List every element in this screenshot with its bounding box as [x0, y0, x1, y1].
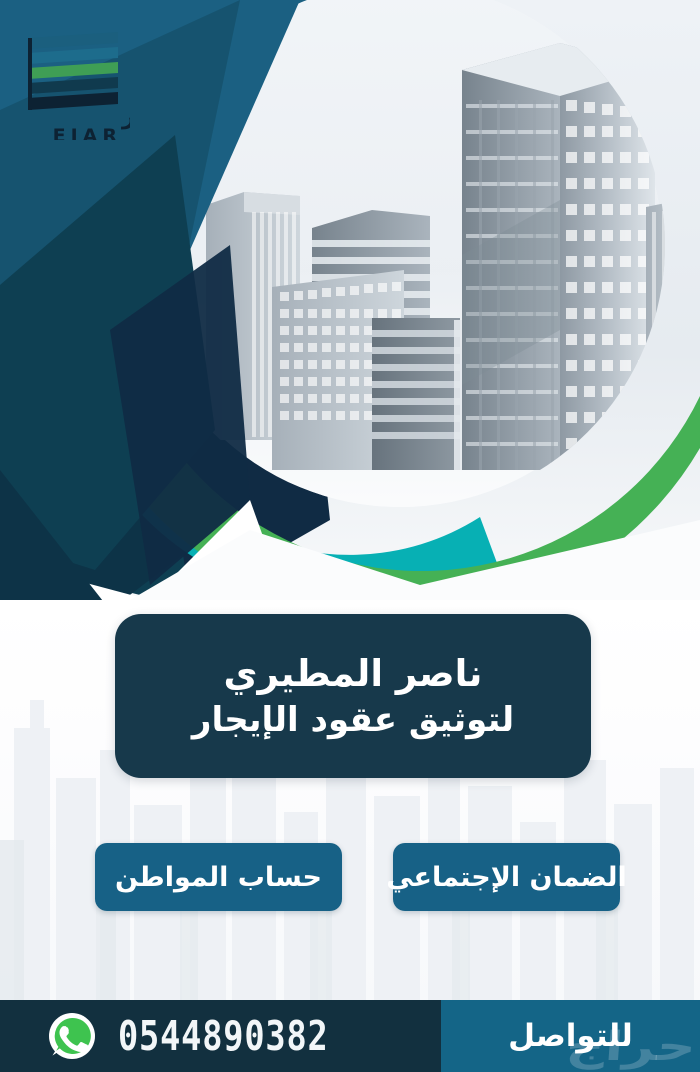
button-social-insurance[interactable]: الضمان الإجتماعي — [393, 843, 620, 911]
button-citizen-account[interactable]: حساب المواطن — [95, 843, 342, 911]
hero-artwork: إيجار EJAR — [0, 0, 700, 640]
ejar-logo: إيجار EJAR — [18, 28, 130, 140]
service-buttons: الضمان الإجتماعي حساب المواطن — [0, 843, 700, 913]
contact-label: للتواصل — [508, 1018, 633, 1054]
phone-panel[interactable]: 0544890382 — [0, 1000, 441, 1072]
contact-bar: 0544890382 حراج للتواصل — [0, 1000, 700, 1072]
contact-panel: حراج للتواصل — [441, 1000, 700, 1072]
title-card: ناصر المطيري لتوثيق عقود الإيجار — [115, 614, 591, 778]
whatsapp-icon[interactable] — [48, 1012, 96, 1060]
ejar-logo-stripes — [28, 32, 118, 110]
ejar-logo-latin: EJAR — [53, 125, 122, 140]
ejar-promo-poster: إيجار EJAR — [0, 0, 700, 1072]
ejar-logo-arabic: إيجار — [121, 104, 130, 130]
page-subtitle: لتوثيق عقود الإيجار — [192, 700, 514, 741]
page-title: ناصر المطيري — [224, 651, 483, 696]
phone-number[interactable]: 0544890382 — [118, 1012, 329, 1060]
